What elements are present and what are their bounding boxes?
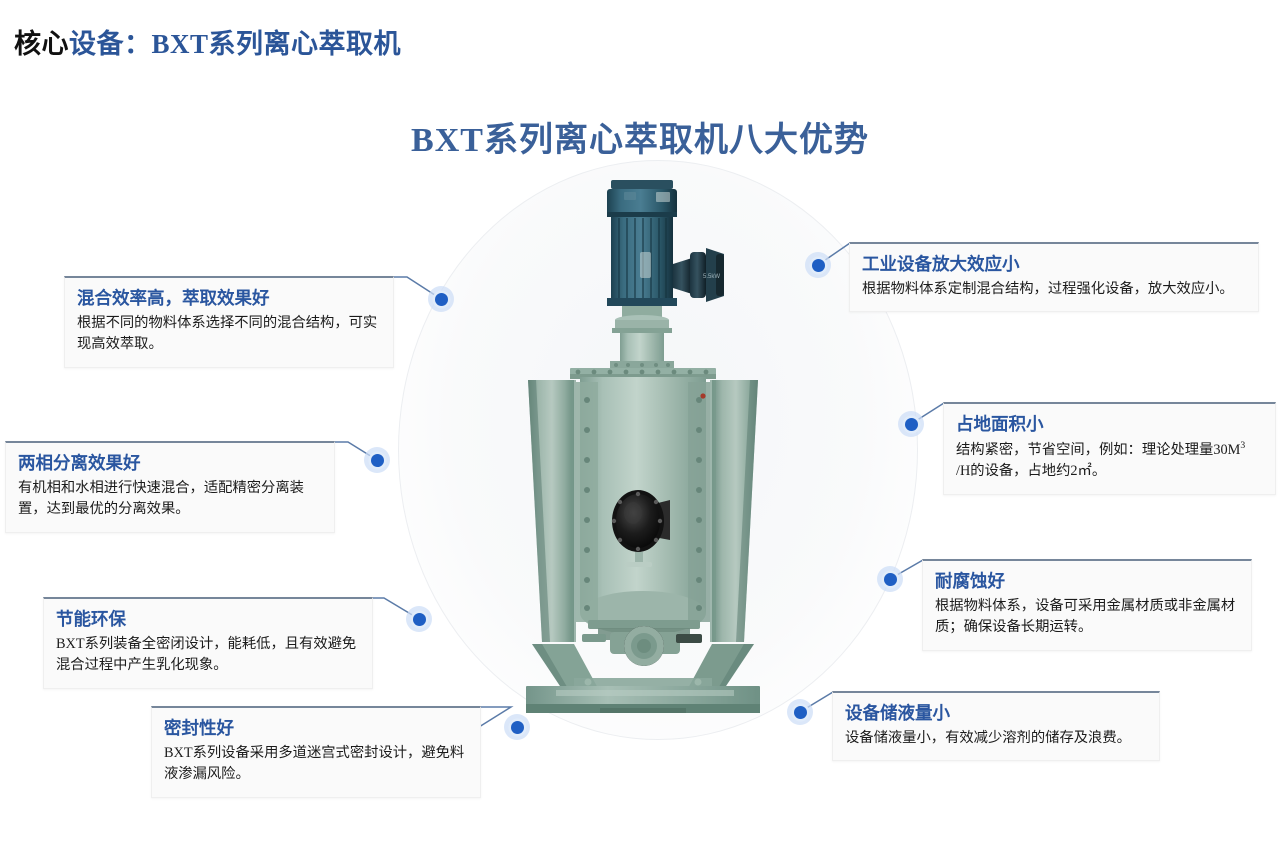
footprint-body-pre: 结构紧密，节省空间，例如：理论处理量30M	[956, 441, 1240, 457]
callout-title: 占地面积小	[956, 413, 1263, 437]
discharge-assembly	[582, 620, 702, 666]
svg-text:5.5kW: 5.5kW	[703, 274, 720, 280]
slide-canvas: 核心设备：BXT系列离心萃取机 BXT系列离心萃取机八大优势	[0, 0, 1280, 845]
callout-sealing[interactable]: 密封性好 BXT系列设备采用多道迷宫式密封设计，避免料液渗漏风险。	[151, 706, 481, 798]
callout-low-holdup[interactable]: 设备储液量小 设备储液量小，有效减少溶剂的储存及浪费。	[832, 691, 1160, 761]
callout-body: BXT系列装备全密闭设计，能耗低，且有效避免混合过程中产生乳化现象。	[56, 634, 360, 677]
callout-scale-up[interactable]: 工业设备放大效应小 根据物料体系定制混合结构，过程强化设备，放大效应小。	[849, 242, 1259, 312]
machine-photo: 5.5kW	[470, 168, 850, 728]
node-corrosion-resistance[interactable]	[877, 566, 903, 592]
callout-mixing-efficiency[interactable]: 混合效率高，萃取效果好 根据不同的物料体系选择不同的混合结构，可实现高效萃取。	[64, 276, 394, 368]
callout-body: 设备储液量小，有效减少溶剂的储存及浪费。	[845, 728, 1147, 750]
callout-title: 两相分离效果好	[18, 452, 322, 476]
footprint-body-post: /H的设备，占地约2㎡。	[956, 463, 1106, 479]
callout-body: BXT系列设备采用多道迷宫式密封设计，避免料液渗漏风险。	[164, 743, 468, 786]
footprint-body-sup: 3	[1240, 440, 1245, 451]
callout-title: 节能环保	[56, 608, 360, 632]
page-title-suffix: 设备：BXT系列离心萃取机	[69, 29, 401, 59]
support-shell-left	[528, 380, 576, 642]
callout-title: 混合效率高，萃取效果好	[77, 287, 381, 311]
callout-title: 工业设备放大效应小	[862, 253, 1246, 277]
base-plate	[526, 686, 760, 713]
callout-energy-saving[interactable]: 节能环保 BXT系列装备全密闭设计，能耗低，且有效避免混合过程中产生乳化现象。	[43, 597, 373, 689]
centrifugal-extractor-illustration: 5.5kW	[470, 168, 850, 728]
callout-body: 根据物料体系，设备可采用金属材质或非金属材质；确保设备长期运转。	[935, 596, 1239, 639]
gearbox-icon: 5.5kW	[673, 248, 724, 302]
callout-title: 设备储液量小	[845, 702, 1147, 726]
node-energy-saving[interactable]	[406, 606, 432, 632]
motor-icon	[607, 180, 677, 306]
node-phase-separation[interactable]	[364, 447, 390, 473]
callout-title: 密封性好	[164, 717, 468, 741]
page-title: 核心设备：BXT系列离心萃取机	[14, 22, 401, 61]
callout-corrosion-resistance[interactable]: 耐腐蚀好 根据物料体系，设备可采用金属材质或非金属材质；确保设备长期运转。	[922, 559, 1252, 651]
callout-title: 耐腐蚀好	[935, 570, 1239, 594]
main-title: BXT系列离心萃取机八大优势	[0, 112, 1280, 161]
callout-footprint[interactable]: 占地面积小 结构紧密，节省空间，例如：理论处理量30M3 /H的设备，占地约2㎡…	[943, 402, 1276, 495]
callout-body: 结构紧密，节省空间，例如：理论处理量30M3 /H的设备，占地约2㎡。	[956, 439, 1263, 483]
drive-neck	[610, 306, 674, 368]
callout-phase-separation[interactable]: 两相分离效果好 有机相和水相进行快速混合，适配精密分离装置，达到最优的分离效果。	[5, 441, 335, 533]
callout-body: 根据不同的物料体系选择不同的混合结构，可实现高效萃取。	[77, 313, 381, 356]
page-title-prefix: 核心	[14, 29, 69, 59]
node-mixing-efficiency[interactable]	[428, 286, 454, 312]
support-shell-right	[710, 380, 758, 642]
callout-body: 根据物料体系定制混合结构，过程强化设备，放大效应小。	[862, 279, 1246, 301]
callout-body: 有机相和水相进行快速混合，适配精密分离装置，达到最优的分离效果。	[18, 478, 322, 521]
node-footprint[interactable]	[898, 411, 924, 437]
